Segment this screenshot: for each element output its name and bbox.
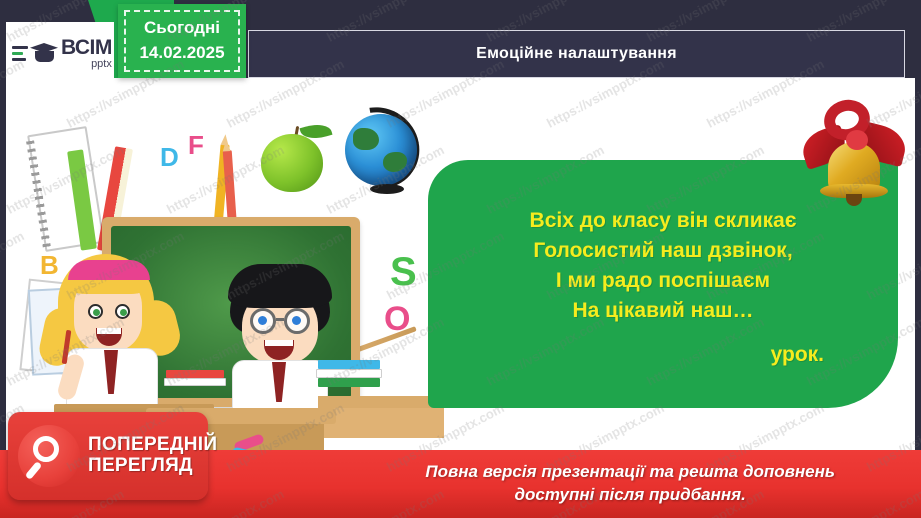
date-badge: Сьогодні 14.02.2025: [118, 4, 246, 78]
slide-header: Емоційне налаштування: [248, 30, 905, 78]
purchase-banner-line1: Повна версія презентації та решта доповн…: [425, 461, 835, 484]
date-badge-label: Сьогодні: [144, 16, 220, 41]
bell-clapper: [846, 194, 862, 206]
preview-badge-line2: ПЕРЕГЛЯД: [88, 456, 217, 477]
letter-d-icon: D: [160, 144, 179, 170]
boy-pupil-left: [258, 316, 267, 325]
bell-icon: [800, 96, 910, 206]
preview-badge[interactable]: ПОПЕРЕДНІЙ ПЕРЕГЛЯД: [8, 412, 208, 500]
boy-hair-top: [228, 264, 332, 308]
preview-badge-line1: ПОПЕРЕДНІЙ: [88, 435, 217, 456]
boy-glasses-bridge: [276, 318, 284, 321]
girl-pupil-right: [120, 309, 127, 316]
purchase-banner-text: Повна версія презентації та решта доповн…: [425, 461, 835, 507]
poem-line-4: На цікавий наш…: [454, 296, 872, 326]
motion-lines-icon: [12, 46, 28, 61]
poem-line-3: І ми радо поспішаєм: [454, 266, 872, 296]
letter-b-icon: B: [40, 252, 59, 278]
page-title: Емоційне налаштування: [476, 45, 677, 63]
letter-f-icon: F: [188, 132, 204, 158]
magnifier-icon: [18, 425, 80, 487]
letter-s-icon: S: [390, 252, 417, 292]
boy-pupil-right: [292, 316, 301, 325]
purchase-banner-line2: доступні після придбання.: [425, 484, 835, 507]
date-badge-value: 14.02.2025: [139, 41, 224, 66]
book-open: [164, 378, 226, 386]
red-pencil-icon: [223, 150, 237, 226]
globe-icon: [345, 114, 417, 186]
poem-line-1: Всіх до класу він скликає: [454, 206, 872, 236]
desk-right-body: [324, 408, 444, 438]
bell-ribbon-knot: [846, 130, 868, 150]
girl-pupil-left: [93, 309, 100, 316]
classroom-illustration: F D B S O: [18, 92, 448, 432]
book-blue: [318, 360, 380, 369]
globe-base-icon: [370, 184, 404, 194]
book-red: [166, 370, 224, 378]
book-green: [318, 378, 380, 387]
poem-answer: урок.: [454, 340, 872, 370]
logo-sub-text: pptx: [61, 59, 112, 70]
presentation-slide: F D B S O: [0, 0, 921, 518]
graduation-cap-icon: [30, 40, 58, 66]
brand-logo[interactable]: ВСІМ pptx: [6, 22, 114, 84]
logo-brand-text: ВСІМ: [61, 37, 112, 58]
girl-headband: [68, 260, 150, 280]
poem-line-2: Голосистий наш дзвінок,: [454, 236, 872, 266]
apple-icon: [261, 134, 323, 192]
book-white: [316, 369, 382, 378]
